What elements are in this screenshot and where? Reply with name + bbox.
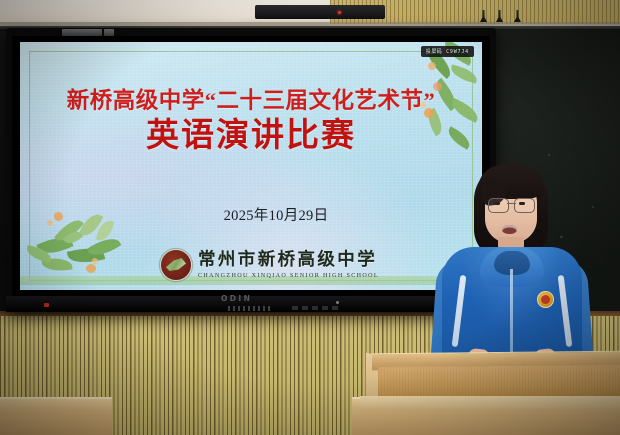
panel-control-pad[interactable] bbox=[62, 29, 102, 36]
cast-code-label: 投屏码 bbox=[426, 48, 442, 55]
jacket-emblem-icon bbox=[537, 291, 554, 308]
interactive-flat-panel[interactable]: 投屏码 C9W7J4 新桥高级中学“二十三届文化艺术节” 英语演讲比赛 2025… bbox=[6, 28, 496, 312]
panel-control-button[interactable] bbox=[104, 29, 114, 36]
podium-base bbox=[360, 396, 620, 408]
school-lockup: 常州市新桥高级中学 CHANGZHOU XINQIAO SENIOR HIGH … bbox=[160, 244, 410, 286]
photo-scene: 投屏码 C9W7J4 新桥高级中学“二十三届文化艺术节” 英语演讲比赛 2025… bbox=[0, 0, 620, 435]
jacket-zipper bbox=[510, 269, 513, 363]
bench-left bbox=[0, 397, 112, 435]
panel-bottom-bezel: ODIN bbox=[6, 296, 496, 312]
panel-port-row[interactable] bbox=[292, 306, 340, 310]
school-emblem-icon bbox=[160, 249, 192, 281]
glasses-icon bbox=[488, 198, 535, 211]
slide-date: 2025年10月29日 bbox=[20, 204, 482, 225]
hair-fringe bbox=[478, 165, 544, 199]
sensor-led-icon bbox=[338, 11, 341, 14]
ir-receiver-icon bbox=[336, 301, 339, 304]
slide-title-block: 新桥高级中学“二十三届文化艺术节” 英语演讲比赛 bbox=[20, 90, 482, 153]
slide-title-line1: 新桥高级中学“二十三届文化艺术节” bbox=[20, 90, 482, 113]
presentation-slide: 投屏码 C9W7J4 新桥高级中学“二十三届文化艺术节” 英语演讲比赛 2025… bbox=[20, 42, 482, 290]
slide-title-line2: 英语演讲比赛 bbox=[20, 120, 482, 153]
school-name-en: CHANGZHOU XINQIAO SENIOR HIGH SCHOOL bbox=[198, 273, 379, 279]
cast-code-badge: 投屏码 C9W7J4 bbox=[421, 46, 474, 57]
student-speaker bbox=[432, 163, 592, 363]
ceiling-sensor-bar bbox=[255, 5, 385, 19]
panel-key-row[interactable] bbox=[228, 306, 270, 311]
school-name-cn: 常州市新桥高级中学 bbox=[198, 251, 379, 269]
power-led-icon bbox=[44, 303, 49, 307]
mouth bbox=[502, 225, 517, 234]
panel-brand-logo: ODIN bbox=[221, 294, 252, 303]
cast-code-value: C9W7J4 bbox=[446, 49, 469, 55]
